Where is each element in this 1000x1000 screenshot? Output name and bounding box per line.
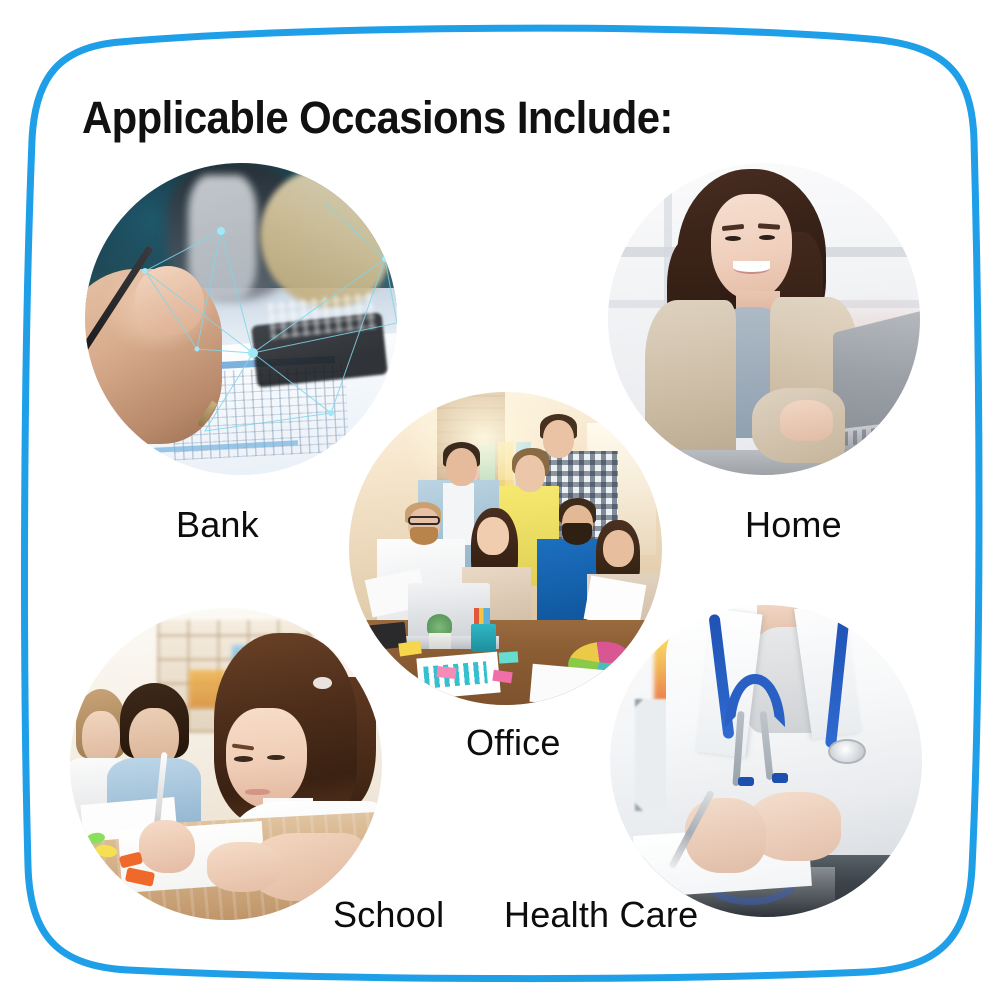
school-photo <box>70 608 382 920</box>
occasion-label-school: School <box>333 894 444 936</box>
infographic-canvas: Applicable Occasions Include: <box>0 0 1000 1000</box>
occasion-label-bank: Bank <box>176 504 259 546</box>
occasion-label-health-care: Health Care <box>504 894 698 936</box>
page-title: Applicable Occasions Include: <box>82 92 673 144</box>
health-care-photo <box>610 605 922 917</box>
occasion-label-office: Office <box>466 722 561 764</box>
occasion-label-home: Home <box>745 504 842 546</box>
